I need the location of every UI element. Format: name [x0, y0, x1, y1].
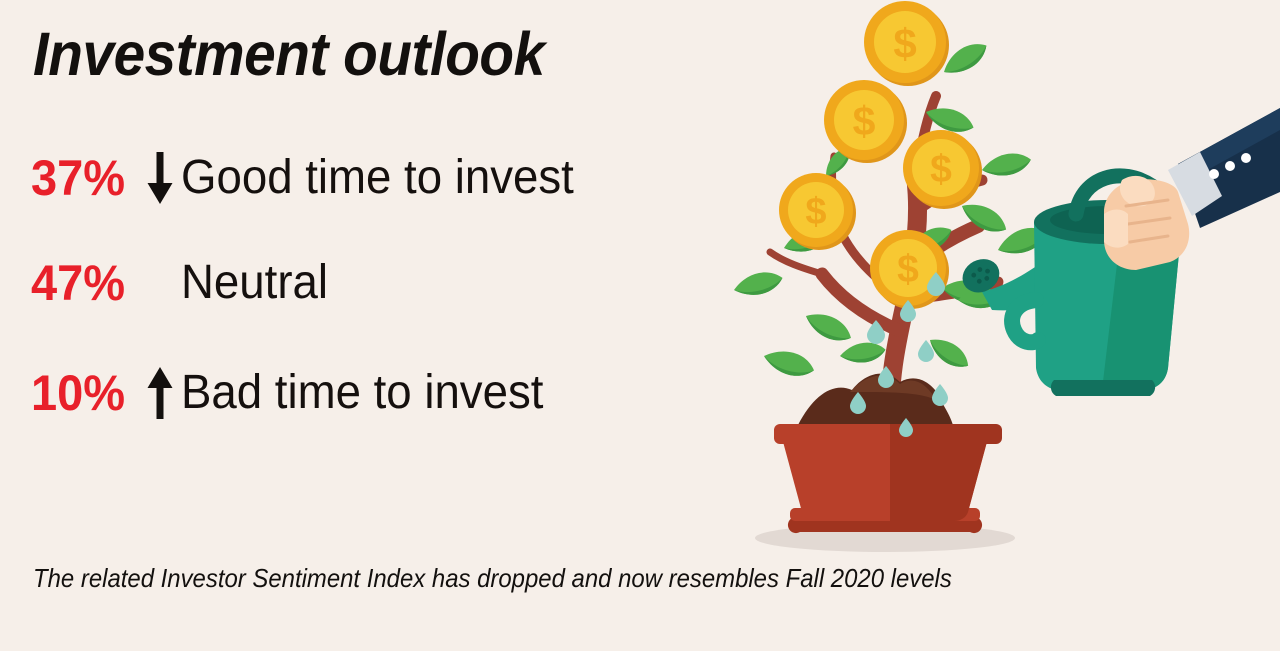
stat-percent: 10% [31, 368, 133, 418]
leaf [980, 149, 1033, 180]
stat-label: Bad time to invest [181, 369, 543, 417]
arrow-down-icon [139, 147, 181, 209]
leaf [761, 345, 817, 381]
flower-pot [774, 374, 1002, 533]
can-side-handle [1012, 300, 1038, 342]
stat-label: Good time to invest [181, 154, 574, 202]
arrow-none-placeholder [139, 252, 181, 314]
stat-percent: 47% [31, 258, 133, 308]
coin: $ [824, 80, 907, 163]
arrow-up-icon [139, 362, 181, 424]
leaf [839, 340, 887, 366]
text-column: Investment outlook 37% Good time to inve… [0, 0, 700, 651]
stat-row: 47% Neutral [31, 252, 336, 314]
leaf [801, 307, 855, 348]
svg-text:$: $ [853, 98, 876, 144]
stat-percent: 37% [31, 153, 133, 203]
grip-highlight [1104, 210, 1128, 248]
svg-text:$: $ [897, 248, 919, 291]
stat-row: 10% Bad time to invest [31, 362, 563, 424]
coin: $ [864, 1, 949, 86]
dollar-coins: $ $ $ $ [779, 1, 982, 309]
water-drop [932, 384, 948, 406]
stat-row: 37% Good time to invest [31, 147, 595, 209]
coin: $ [779, 173, 856, 250]
svg-text:$: $ [930, 148, 952, 191]
page-title: Investment outlook [33, 24, 545, 85]
svg-text:$: $ [805, 191, 826, 233]
can-base [1051, 380, 1155, 396]
stat-label: Neutral [181, 259, 328, 307]
hand-and-sleeve [1104, 108, 1280, 270]
money-tree-illustration: $ $ $ $ [730, 0, 1280, 651]
svg-text:$: $ [893, 20, 916, 67]
leaf [731, 268, 785, 300]
infographic-root: Investment outlook 37% Good time to inve… [0, 0, 1280, 651]
